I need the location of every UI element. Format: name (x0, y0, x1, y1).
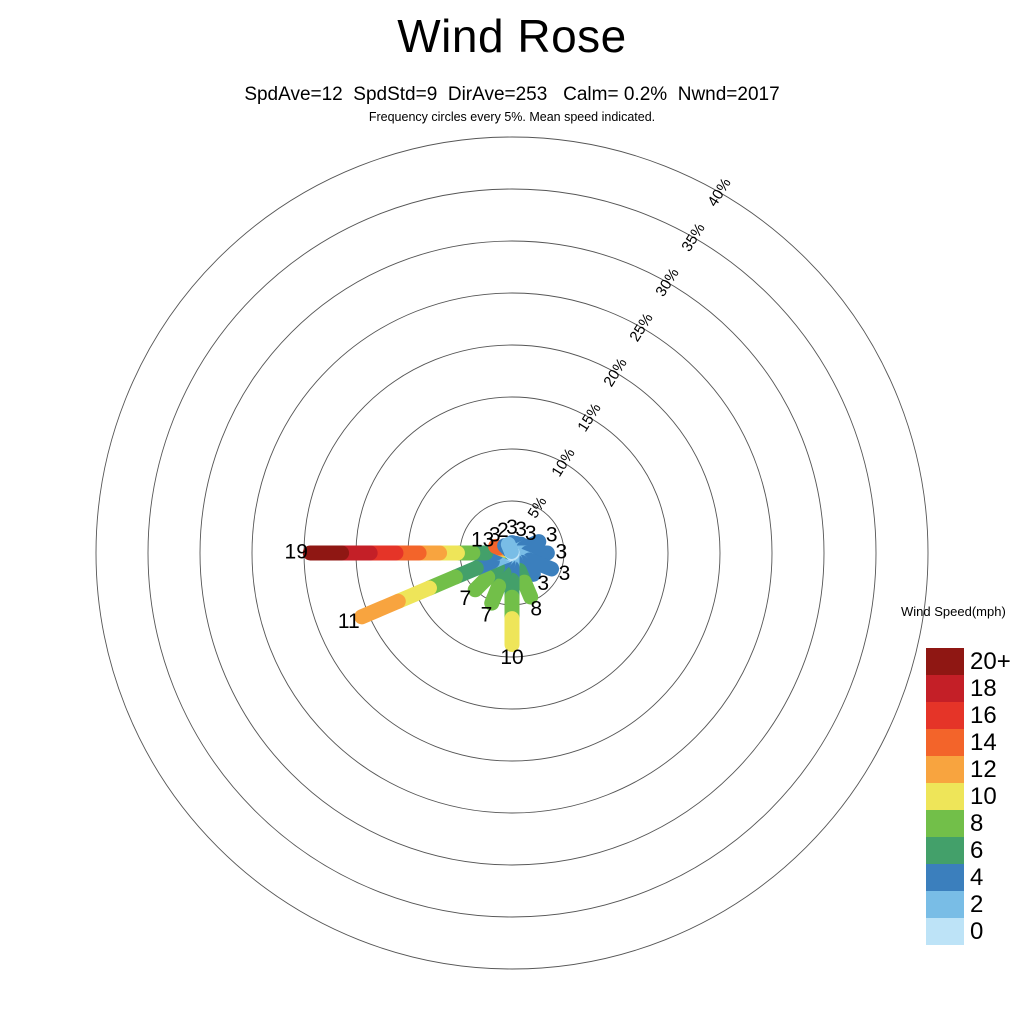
legend-label: 4 (970, 864, 983, 891)
petal-segment (492, 586, 499, 603)
legend-color-swatch (926, 648, 964, 675)
petal-mean-speed-label: 2 (497, 519, 509, 542)
petal-mean-speed-label: 8 (530, 597, 542, 620)
legend-row[interactable]: 18 (926, 675, 964, 702)
legend-color-swatch (926, 837, 964, 864)
ring-tick-label: 15% (574, 400, 604, 434)
legend-row[interactable]: 14 (926, 729, 964, 756)
wind-rose-figure: Wind Rose SpdAve=12 SpdStd=9 DirAve=253 … (0, 0, 1024, 1024)
ring-tick-label: 40% (704, 175, 734, 209)
petal-mean-speed-label: 7 (459, 587, 471, 610)
legend-row[interactable]: 10 (926, 783, 964, 810)
legend-color-swatch (926, 783, 964, 810)
ring-tick-label: 25% (626, 310, 656, 344)
legend-label: 20+ (970, 648, 1011, 675)
petal-mean-speed-label: 3 (525, 522, 537, 545)
legend-label: 2 (970, 891, 983, 918)
legend-row[interactable]: 20+ (926, 648, 964, 675)
legend-row[interactable]: 4 (926, 864, 964, 891)
legend-label: 14 (970, 729, 997, 756)
legend-label: 0 (970, 918, 983, 945)
ring-tick-label: 35% (678, 220, 708, 254)
legend-row[interactable]: 8 (926, 810, 964, 837)
petal-segment (475, 577, 487, 589)
legend-label: 8 (970, 810, 983, 837)
petal-segment (362, 601, 399, 617)
petal-segment (524, 582, 530, 597)
petal-mean-speed-label: 3 (537, 572, 549, 595)
legend-label: 10 (970, 783, 997, 810)
legend-color-swatch (926, 864, 964, 891)
petal-mean-speed-label: 3 (556, 541, 568, 564)
legend-color-swatch (926, 675, 964, 702)
petal-mean-speed-label: 10 (500, 646, 523, 669)
ring-tick-label: 30% (652, 265, 682, 299)
ring-tick-labels: 5%10%15%20%25%30%35%40% (525, 175, 735, 521)
legend-label: 12 (970, 756, 997, 783)
legend-row[interactable]: 16 (926, 702, 964, 729)
legend-label: 18 (970, 675, 997, 702)
legend-label: 6 (970, 837, 983, 864)
petal-segment (508, 544, 511, 551)
legend-color-swatch (926, 729, 964, 756)
ring-tick-label: 5% (525, 494, 551, 521)
petal-mean-speed-label: 19 (285, 541, 308, 564)
legend-color-swatch (926, 756, 964, 783)
legend: 20+181614121086420 (926, 648, 964, 945)
legend-color-swatch (926, 810, 964, 837)
ring-tick-label: 10% (548, 445, 578, 479)
legend-title: Wind Speed(mph) (901, 604, 1006, 619)
wind-rose-plot: 5%10%15%20%25%30%35%40% 3333333810771119… (0, 0, 1024, 1024)
petal-mean-speed-label: 11 (338, 610, 360, 633)
legend-row[interactable]: 12 (926, 756, 964, 783)
ring-tick-label: 20% (600, 355, 630, 389)
legend-color-swatch (926, 702, 964, 729)
petal-mean-speed-label: 7 (481, 604, 493, 627)
petal-mean-speed-label: 3 (559, 562, 571, 585)
legend-row[interactable]: 0 (926, 918, 964, 945)
legend-row[interactable]: 6 (926, 837, 964, 864)
legend-label: 16 (970, 702, 997, 729)
legend-row[interactable]: 2 (926, 891, 964, 918)
legend-color-swatch (926, 891, 964, 918)
legend-color-swatch (926, 918, 964, 945)
